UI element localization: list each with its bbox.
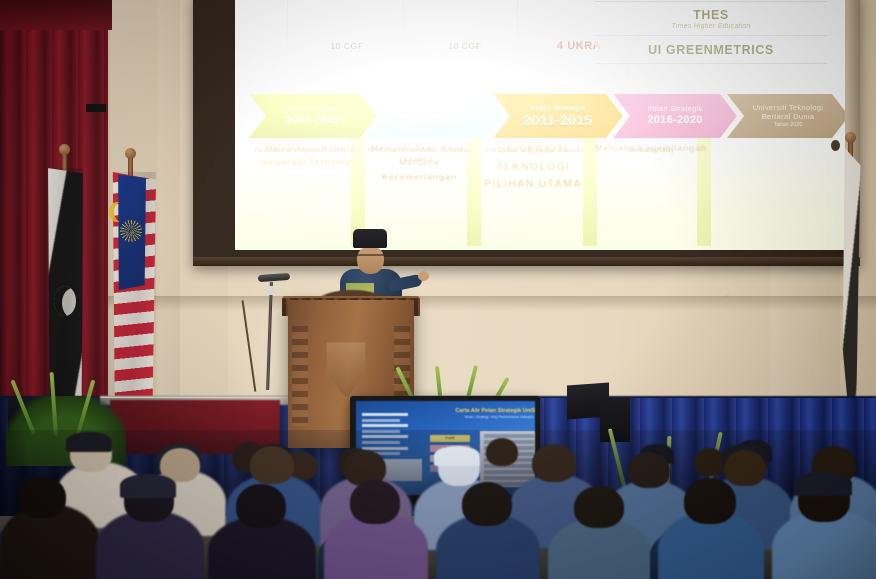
rankings-panel: QS ASIA THES Times Higher Education UI G…	[595, 0, 827, 64]
monitor-slide-title-group: Carta Alir Pelan Strategik UniSZA Teras …	[452, 408, 535, 419]
phase-caption-2: Mengukuhkan Asas, Menjana Kecemerlangan …	[363, 142, 475, 164]
audience-head	[462, 482, 512, 526]
value-column-1: 10 CGF	[302, 26, 392, 66]
value-column-2: 10 CGF	[420, 26, 510, 66]
monitor-slide-title: Carta Alir Pelan Strategik UniSZA	[452, 408, 535, 415]
screen-bezel-bottom	[193, 257, 860, 266]
timeline-label-4: Pelan Strategik	[647, 105, 702, 114]
timeline-period-4: 2016-2020	[647, 114, 702, 127]
flagpole-finial-malaysia	[125, 148, 136, 159]
assessment-column-2: MyRA 10 CGF	[411, 0, 519, 66]
phase-title-4: Menjana Kegemilangan	[595, 142, 707, 156]
kopiah-cap	[434, 446, 480, 466]
podium-carving-left	[292, 326, 308, 426]
timeline-label-1: Pelan Strategik	[285, 105, 340, 114]
ranking-label-2: THES	[693, 8, 729, 22]
column-divider-2	[403, 0, 404, 82]
flag-furled-right	[838, 148, 864, 434]
phase-title-3: UNIVERSITI TEKNOLOGI PILIHAN UTAMA	[477, 142, 589, 193]
flag-furled-cloth	[838, 148, 864, 434]
ranking-sublabel-2: Times Higher Education	[671, 23, 750, 30]
flagpole-finial-terengganu	[59, 144, 70, 155]
timeline-chevron-2: Pelan Strategik 2008-2010	[367, 94, 503, 138]
phase-caption-3: UNIVERSITI TEKNOLOGI PILIHAN UTAMA Most …	[477, 142, 589, 156]
audience-head	[18, 476, 66, 518]
songkok-cap	[120, 474, 176, 498]
speaker-hand	[418, 271, 429, 281]
audience-head	[486, 438, 518, 466]
audience-head	[628, 452, 670, 488]
strategy-timeline: Pelan Strategik 2005-2007 Pelan Strategi…	[249, 94, 833, 138]
audience-head	[574, 486, 624, 528]
auditorium-photo: SETARA 10 CGF MyRA 10 CGF MyRA 4 UKRA QS…	[0, 0, 876, 579]
column-divider-1	[287, 0, 288, 82]
audience-head	[724, 450, 766, 486]
timeline-period-2: 2008-2010	[407, 114, 462, 127]
audience-head	[236, 484, 286, 528]
curtain-valance	[0, 0, 112, 30]
ranking-row-greenmetrics: UI GREENMETRICS	[595, 36, 827, 64]
songkok-cap	[353, 229, 387, 248]
projection-screen: SETARA 10 CGF MyRA 10 CGF MyRA 4 UKRA QS…	[193, 0, 860, 266]
monitor-stand	[86, 104, 106, 112]
timeline-period-1: 2005-2007	[285, 114, 340, 127]
phase-caption-1: Meletakkan Asas Universiti Ternama Found…	[249, 142, 361, 156]
timeline-chevron-3: Pelan Strategik 2011-2015	[493, 94, 623, 138]
monitor-slide-subtitle: Teras / Strategi / Key Performance Indic…	[452, 415, 535, 419]
timeline-chevron-1: Pelan Strategik 2005-2007	[249, 94, 377, 138]
audience-head	[250, 446, 294, 484]
ranking-label-3: UI GREENMETRICS	[648, 43, 774, 57]
assessment-column-1: SETARA 10 CGF	[293, 0, 401, 66]
flagpole-finial-right	[845, 132, 856, 143]
timeline-label-2: Pelan Strategik	[407, 105, 462, 114]
songkok-cap	[66, 432, 112, 452]
podium-crest-emblem	[324, 342, 368, 398]
audience-area	[0, 430, 876, 579]
audience-head	[350, 480, 400, 524]
mic-clip	[265, 286, 275, 295]
timeline-period-5: Bertaraf Dunia	[762, 113, 815, 122]
speaker-face	[357, 246, 384, 274]
timeline-label-3: Pelan Strategik	[530, 104, 585, 113]
ranking-row-thes: THES Times Higher Education	[595, 2, 827, 36]
timeline-note-5: Tahun 2020	[774, 122, 803, 128]
phase-caption-4: Menjana Kegemilangan Generating Glory	[595, 142, 707, 156]
audience-head	[532, 444, 576, 482]
glasses-icon	[357, 254, 384, 260]
projected-slide: SETARA 10 CGF MyRA 10 CGF MyRA 4 UKRA QS…	[235, 0, 845, 250]
phase-title-2: Mengukuhkan Asas, Menjana Kecemerlangan	[363, 142, 475, 185]
timeline-chevron-5: Universiti Teknologi Bertaraf Dunia Tahu…	[727, 94, 845, 138]
column-divider-3	[517, 0, 518, 82]
timeline-chevron-4: Pelan Strategik 2016-2020	[613, 94, 737, 138]
audience-head	[684, 478, 736, 524]
timeline-period-3: 2011-2015	[524, 112, 593, 128]
songkok-cap	[794, 472, 852, 496]
phase-title-1: Meletakkan Asas Universiti Ternama	[249, 142, 361, 171]
